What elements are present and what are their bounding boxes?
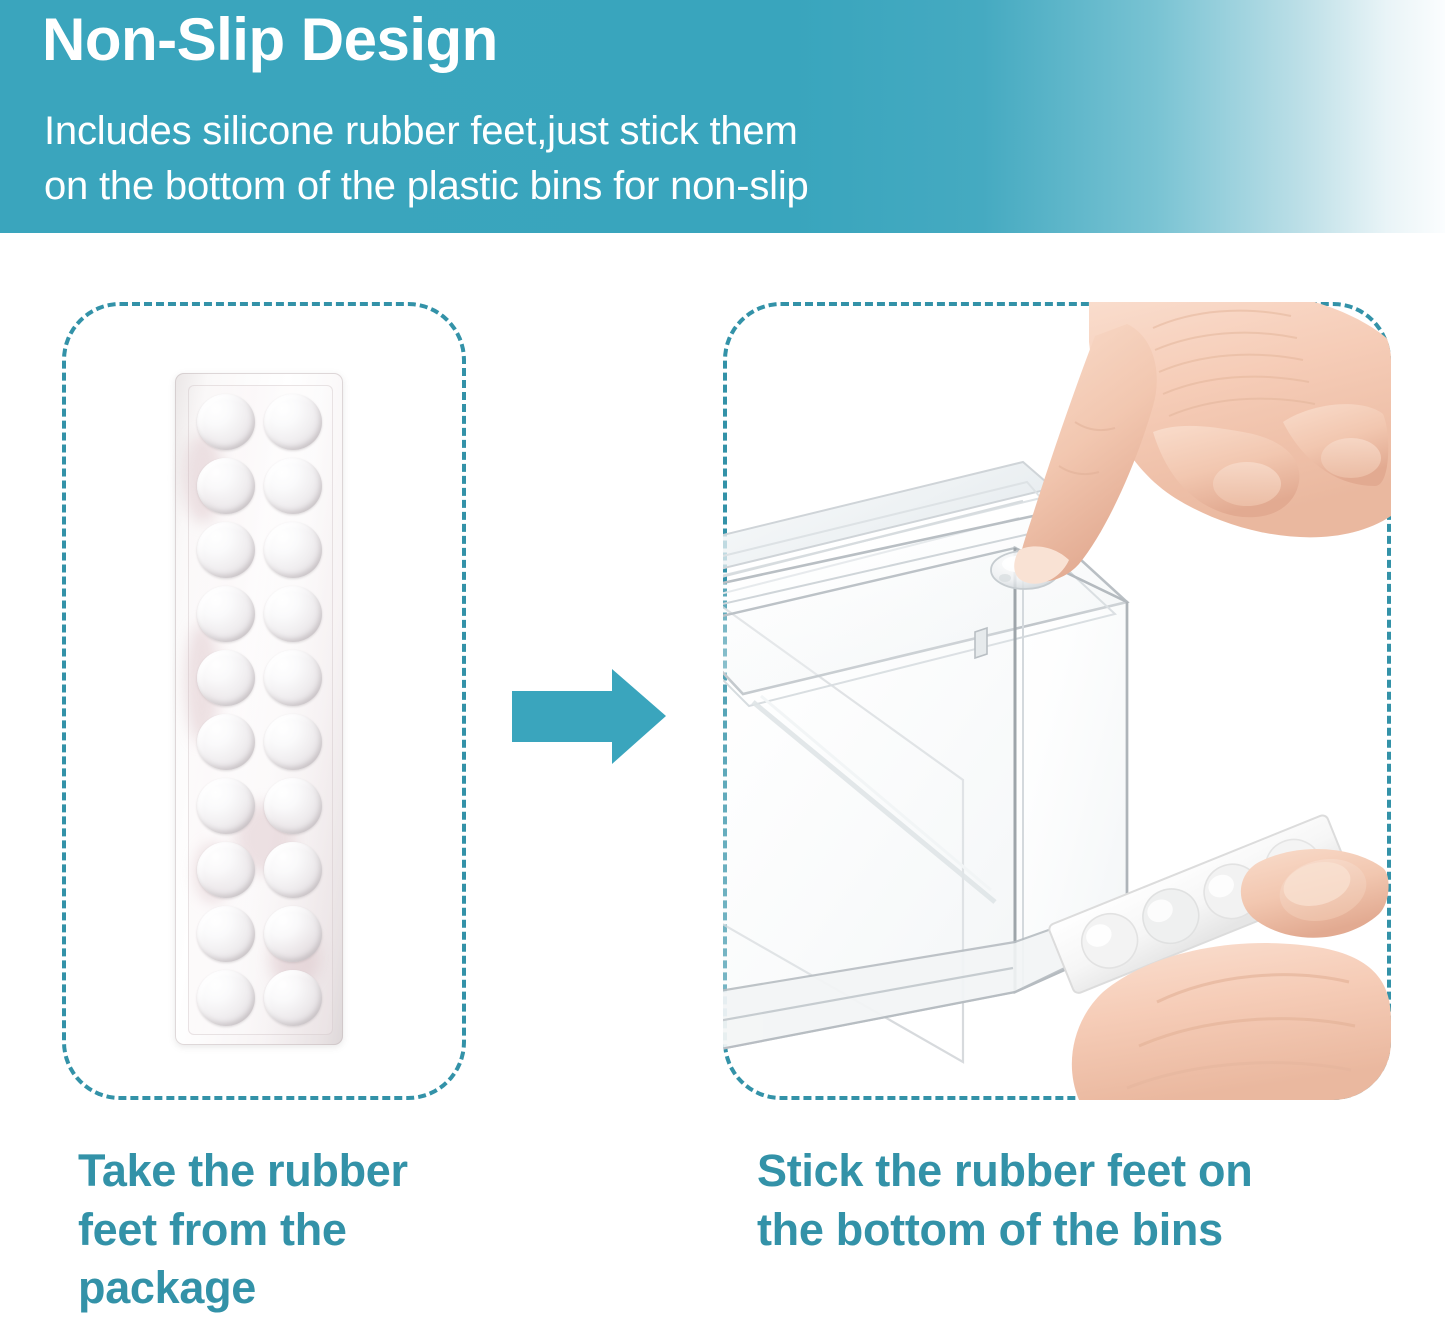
page-title: Non-Slip Design [42, 6, 498, 73]
rubber-foot-bumper [264, 394, 322, 450]
rubber-foot-bumper [264, 970, 322, 1026]
rubber-foot-bumper [197, 586, 255, 642]
rubber-foot-bumper [197, 842, 255, 898]
rubber-feet-blister-strip [175, 373, 343, 1045]
rubber-foot-bumper [197, 394, 255, 450]
rubber-feet-grid [193, 391, 325, 1029]
rubber-foot-bumper [264, 458, 322, 514]
step-1-caption: Take the rubber feet from the package [78, 1142, 508, 1318]
header-subtitle: Includes silicone rubber feet,just stick… [44, 104, 809, 214]
rubber-foot-bumper [264, 522, 322, 578]
rubber-foot-bumper [264, 586, 322, 642]
step-2-illustration [723, 302, 1391, 1100]
right-arrow-icon [512, 669, 666, 764]
rubber-foot-bumper [197, 970, 255, 1026]
step-2-caption: Stick the rubber feet on the bottom of t… [757, 1142, 1397, 1259]
rubber-foot-bumper [197, 906, 255, 962]
rubber-foot-bumper [264, 714, 322, 770]
rubber-foot-bumper [264, 650, 322, 706]
rubber-foot-bumper [197, 778, 255, 834]
rubber-foot-bumper [264, 778, 322, 834]
rubber-foot-bumper [197, 458, 255, 514]
rubber-foot-bumper [264, 842, 322, 898]
rubber-foot-bumper [197, 522, 255, 578]
header-banner: Non-Slip Design Includes silicone rubber… [0, 0, 1445, 233]
rubber-foot-bumper [264, 906, 322, 962]
rubber-foot-bumper [197, 714, 255, 770]
rubber-foot-bumper [197, 650, 255, 706]
